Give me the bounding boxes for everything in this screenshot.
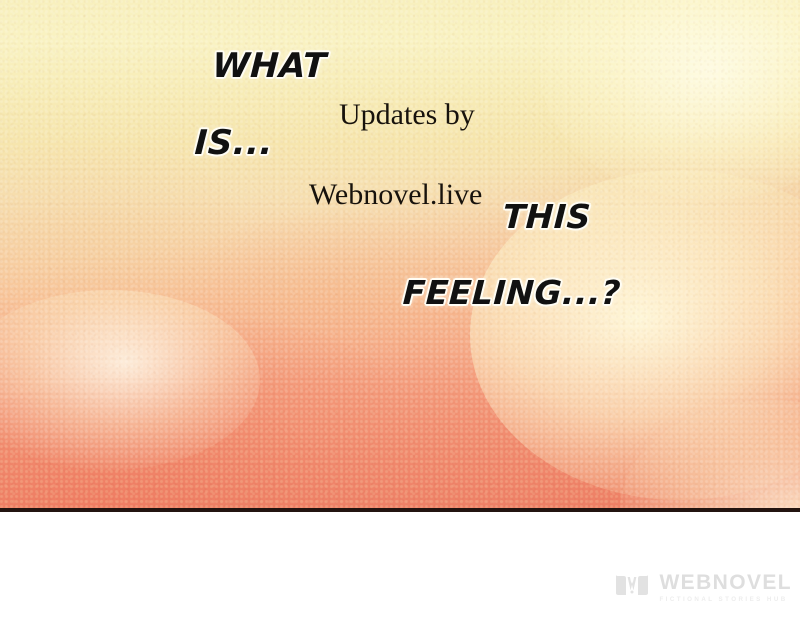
webnovel-watermark: WEBNOVEL FICTIONAL STORIES HUB xyxy=(614,572,792,603)
comic-panel: WHAT IS... THIS FEELING...? Updates by W… xyxy=(0,0,800,511)
credit-overlay-text: Updates by Webnovel.live xyxy=(309,55,482,294)
dialogue-this-feeling-line-1: THIS xyxy=(502,197,592,236)
webnovel-wordmark-group: WEBNOVEL FICTIONAL STORIES HUB xyxy=(659,572,792,603)
webnovel-tagline: FICTIONAL STORIES HUB xyxy=(659,597,787,603)
dialogue-what-is-line-2: IS... xyxy=(158,125,310,161)
footer-area: WEBNOVEL FICTIONAL STORIES HUB xyxy=(0,512,800,620)
webnovel-wordmark: WEBNOVEL xyxy=(659,572,792,593)
credit-overlay-line-2: Webnovel.live xyxy=(309,175,482,215)
credit-overlay-line-1: Updates by xyxy=(339,98,475,131)
dialogue-what-is: WHAT IS... xyxy=(154,12,316,234)
webnovel-book-logo-icon xyxy=(614,572,650,603)
